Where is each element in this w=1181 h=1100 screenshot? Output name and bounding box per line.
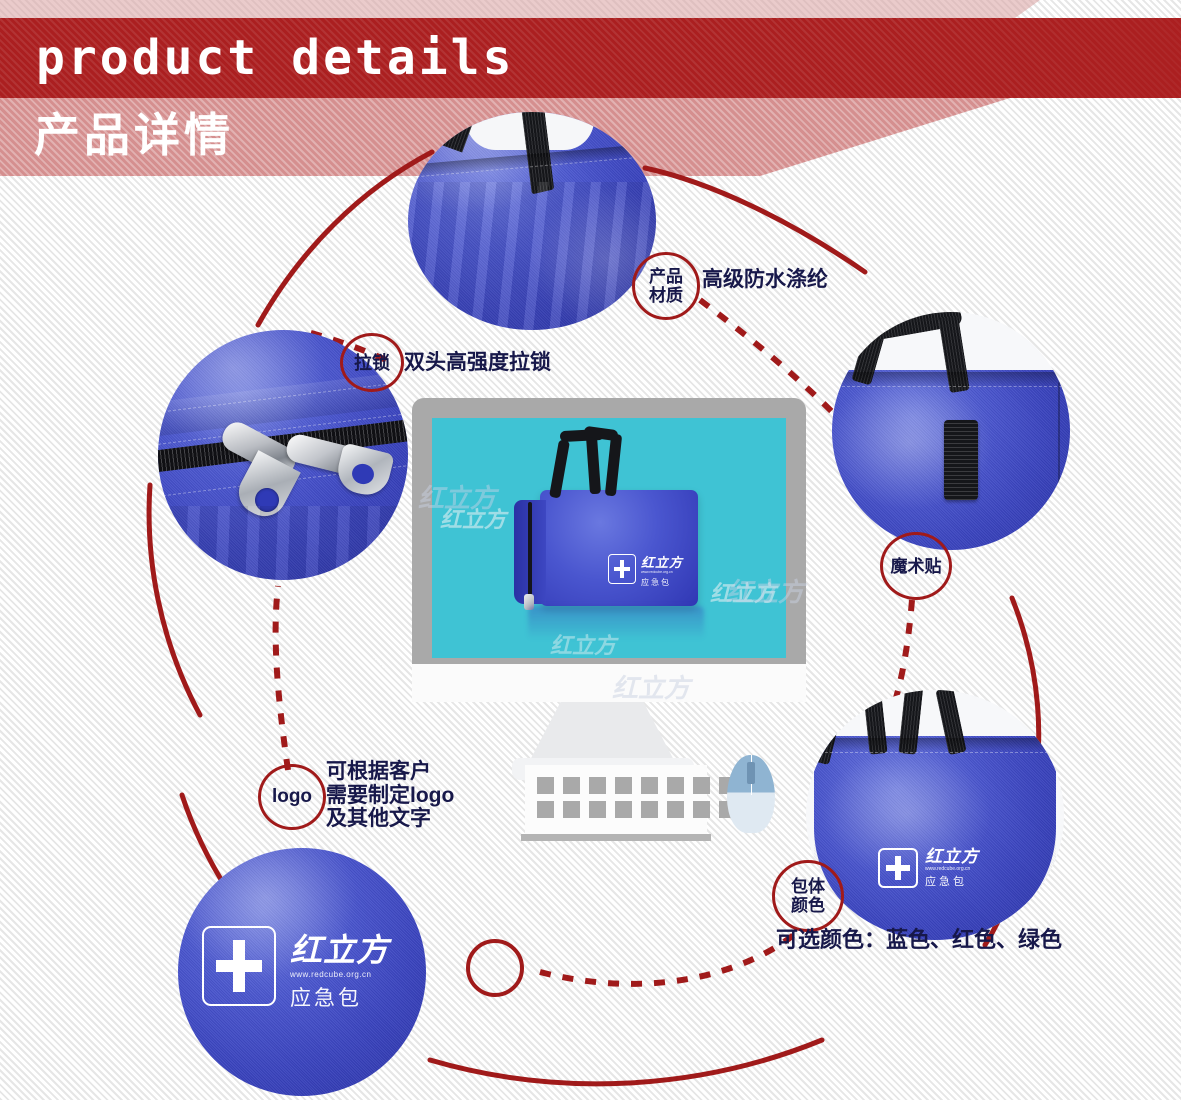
badge-color-line1: 包体 bbox=[791, 877, 825, 896]
watermark: 红立方 bbox=[710, 576, 776, 608]
bag-logo-url: www.redcube.org.cn bbox=[925, 867, 979, 872]
badge-zipper: 拉锁 bbox=[340, 333, 404, 392]
product-photo-brand: 红立方 bbox=[641, 556, 683, 569]
label-logo: 可根据客户 需要制定logo 及其他文字 bbox=[326, 760, 454, 831]
product-photo-logo: 红立方 www.redcube.org.cn 应急包 bbox=[608, 554, 683, 587]
page-background: product details 产品详情 bbox=[0, 0, 1181, 1100]
keyboard-keys bbox=[537, 777, 736, 818]
photo-bubble-velcro bbox=[832, 312, 1070, 550]
velcro-strip bbox=[944, 420, 978, 500]
bag-logo-closeup-brand: 红立方 bbox=[290, 934, 389, 966]
keyboard-base bbox=[521, 834, 711, 841]
product-photo-url: www.redcube.org.cn bbox=[641, 571, 683, 575]
badge-logo: logo bbox=[258, 764, 326, 830]
product-photo-sub: 应急包 bbox=[641, 579, 683, 587]
photo-bubble-logo: 红立方 www.redcube.org.cn 应急包 bbox=[178, 848, 426, 1096]
bag-logo: 红立方 www.redcube.org.cn 应急包 bbox=[878, 848, 979, 888]
label-logo-line3: 及其他文字 bbox=[326, 807, 454, 831]
badge-material-line2: 材质 bbox=[649, 286, 683, 305]
photo-bubble-bag-color: 红立方 www.redcube.org.cn 应急包 bbox=[806, 690, 1064, 940]
watermark: 红立方 bbox=[440, 502, 506, 534]
monitor-screen: 红立方 www.redcube.org.cn 应急包 红立方 红立方 红立方 bbox=[432, 418, 786, 658]
label-material: 高级防水涤纶 bbox=[702, 263, 828, 293]
label-logo-line2: 需要制定logo bbox=[326, 784, 454, 808]
label-color: 可选颜色：蓝色、红色、绿色 bbox=[776, 922, 1062, 954]
badge-logo-line1: logo bbox=[272, 786, 312, 808]
photo-bubble-material bbox=[408, 112, 656, 330]
bag-logo-closeup-url: www.redcube.org.cn bbox=[290, 971, 389, 979]
badge-velcro-line1: 魔术贴 bbox=[891, 557, 942, 576]
monitor-chin bbox=[412, 664, 806, 702]
bag-logo-closeup: 红立方 www.redcube.org.cn 应急包 bbox=[202, 926, 389, 1009]
product-photo: 红立方 www.redcube.org.cn 应急包 红立方 红立方 红立方 bbox=[432, 418, 786, 658]
bag-logo-sub: 应急包 bbox=[925, 877, 979, 888]
bag-logo-closeup-sub: 应急包 bbox=[290, 988, 389, 1009]
bag-logo-brand: 红立方 bbox=[925, 848, 979, 865]
label-zipper: 双头高强度拉锁 bbox=[404, 346, 551, 376]
mouse-wheel bbox=[747, 762, 755, 784]
badge-material: 产品 材质 bbox=[632, 252, 700, 320]
decorative-ring bbox=[468, 941, 522, 995]
label-logo-line1: 可根据客户 bbox=[326, 760, 454, 784]
badge-zipper-line1: 拉锁 bbox=[354, 353, 390, 373]
badge-velcro: 魔术贴 bbox=[880, 532, 952, 600]
badge-material-line1: 产品 bbox=[649, 267, 683, 286]
badge-color-line2: 颜色 bbox=[791, 896, 825, 915]
